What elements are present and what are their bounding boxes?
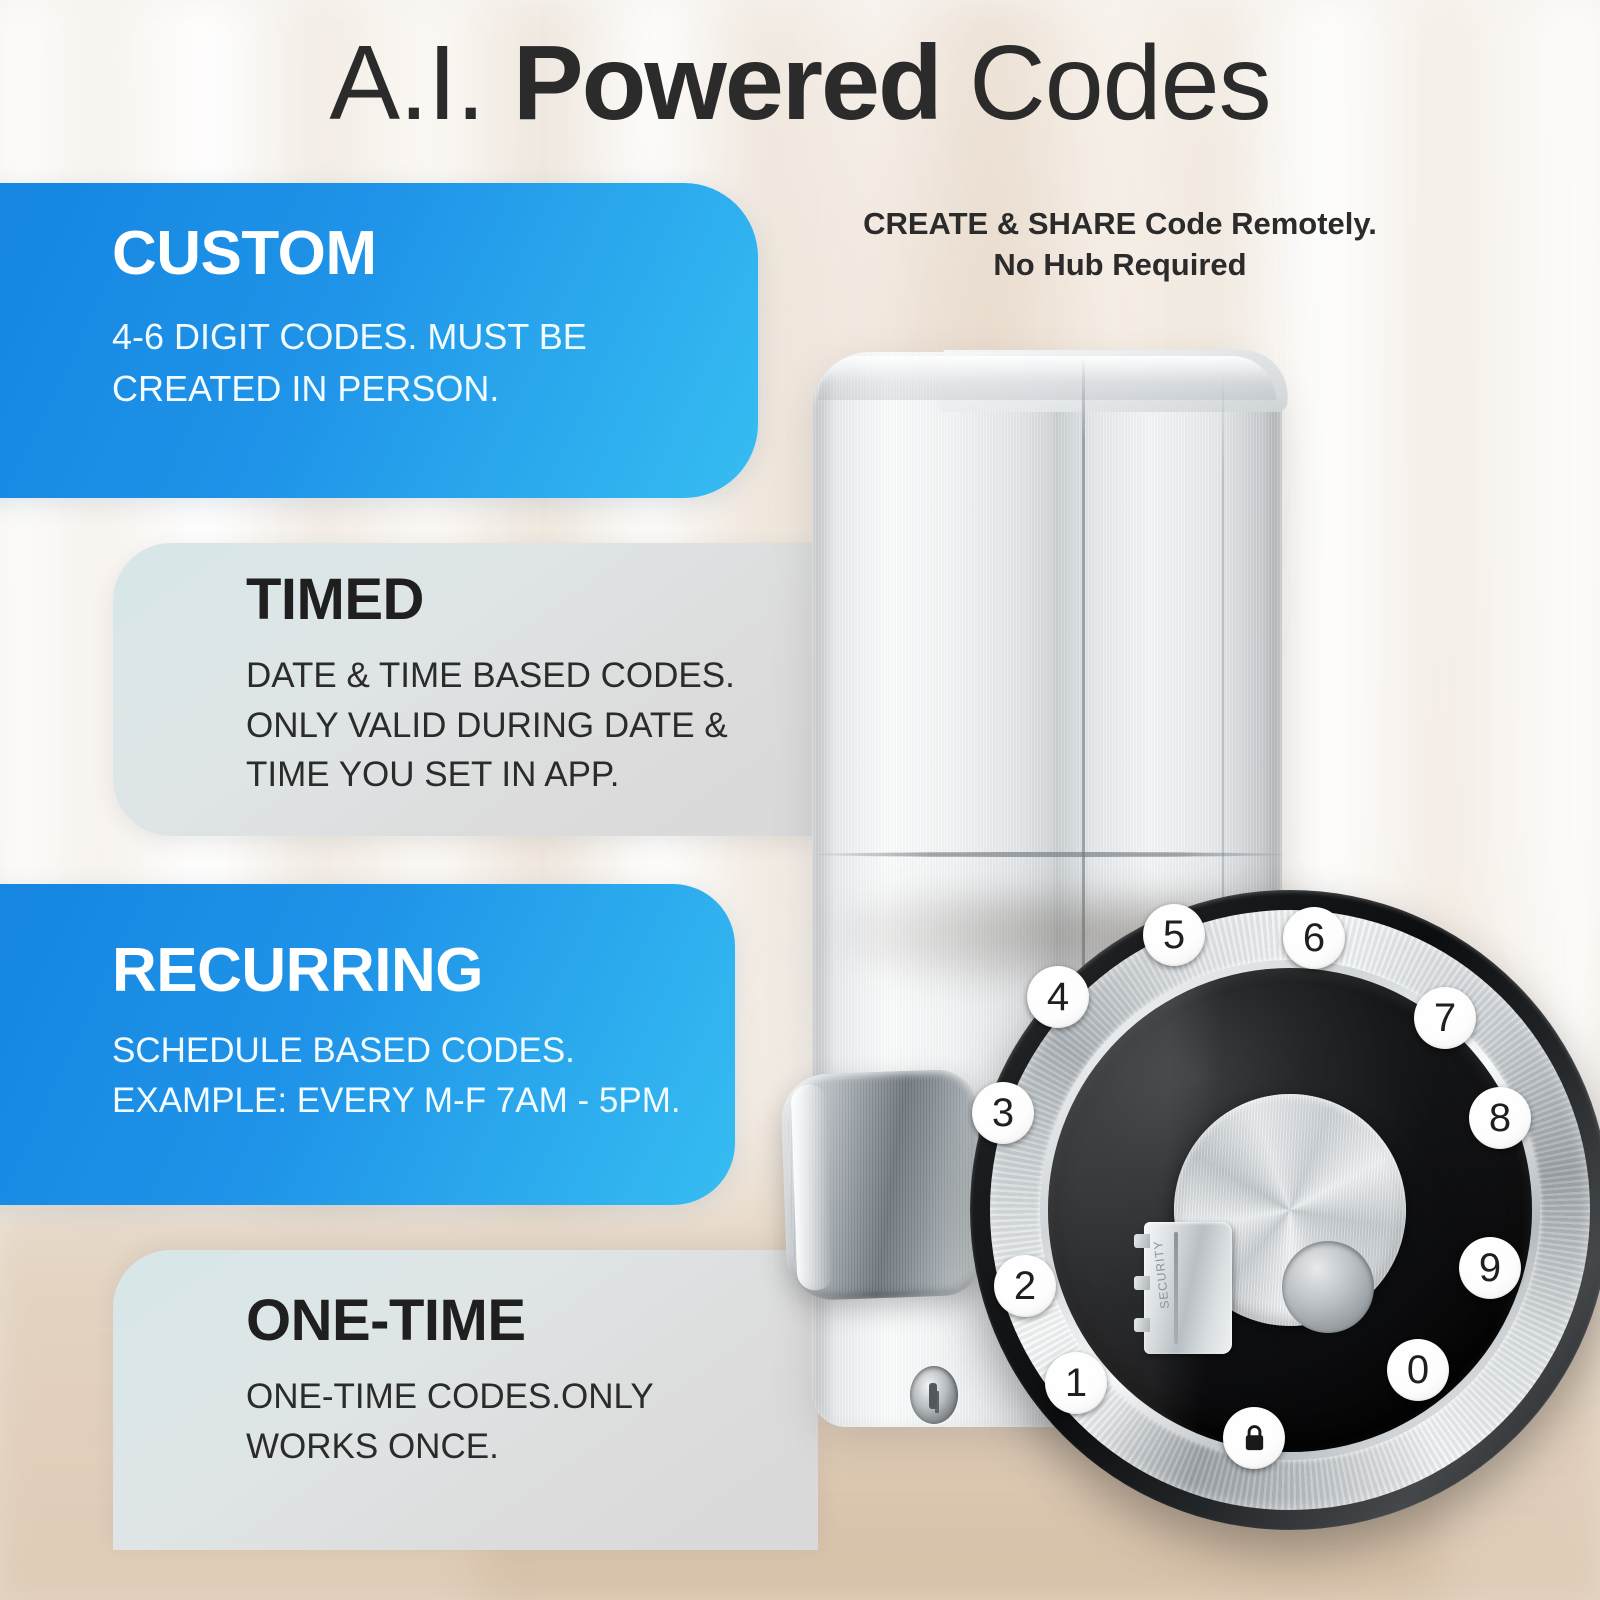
card-one-time-description: ONE-TIME CODES.ONLY WORKS ONCE. — [246, 1372, 778, 1471]
keypad-key-6[interactable]: 6 — [1283, 907, 1345, 969]
card-timed-title: TIMED — [246, 571, 778, 629]
card-custom-description: 4-6 DIGIT CODES. MUST BE CREATED IN PERS… — [112, 311, 698, 415]
thumbturn-knob[interactable] — [780, 1069, 984, 1302]
card-timed-line-1: DATE & TIME BASED CODES. — [246, 651, 778, 701]
card-timed-line-2: ONLY VALID DURING DATE & — [246, 701, 778, 751]
title-part-ai: A.I. — [329, 24, 513, 142]
card-recurring-description: SCHEDULE BASED CODES. EXAMPLE: EVERY M-F… — [112, 1026, 695, 1125]
card-timed-description: DATE & TIME BASED CODES. ONLY VALID DURI… — [246, 651, 778, 800]
thumbturn-highlight — [790, 1084, 833, 1291]
card-recurring-line-1: SCHEDULE BASED CODES. — [112, 1026, 695, 1076]
card-one-time-title: ONE-TIME — [246, 1292, 778, 1350]
feature-card-custom: CUSTOM 4-6 DIGIT CODES. MUST BE CREATED … — [0, 183, 758, 498]
feature-card-recurring: RECURRING SCHEDULE BASED CODES. EXAMPLE:… — [0, 884, 735, 1205]
keypad-key-1[interactable]: 1 — [1045, 1352, 1107, 1414]
smart-lock-product-photo: SECURITY 1 2 3 4 5 6 7 8 9 0 — [770, 330, 1600, 1600]
keypad-key-0[interactable]: 0 — [1387, 1339, 1449, 1401]
deadbolt-seam-line — [816, 852, 1284, 857]
card-recurring-line-2: EXAMPLE: EVERY M-F 7AM - 5PM. — [112, 1076, 695, 1126]
keypad-key-5-label: 5 — [1163, 915, 1185, 955]
caption-line-2: No Hub Required — [800, 245, 1440, 286]
feature-card-one-time: ONE-TIME ONE-TIME CODES.ONLY WORKS ONCE. — [113, 1250, 818, 1550]
keypad-key-4[interactable]: 4 — [1027, 966, 1089, 1028]
key-stamp-text: SECURITY — [1155, 1267, 1242, 1310]
padlock-icon[interactable] — [1223, 1407, 1285, 1469]
keypad-key-3[interactable]: 3 — [972, 1082, 1034, 1144]
keypad-key-4-label: 4 — [1047, 977, 1069, 1017]
keypad-key-8-label: 8 — [1489, 1098, 1511, 1138]
share-remotely-caption: CREATE & SHARE Code Remotely. No Hub Req… — [800, 204, 1440, 286]
title-part-codes: Codes — [941, 24, 1271, 142]
keypad-key-6-label: 6 — [1303, 918, 1325, 958]
keypad-key-2[interactable]: 2 — [994, 1255, 1056, 1317]
keypad-key-3-label: 3 — [992, 1093, 1014, 1133]
card-recurring-title: RECURRING — [112, 940, 695, 1002]
card-one-time-line-2: WORKS ONCE. — [246, 1422, 778, 1472]
keypad-key-9-label: 9 — [1479, 1248, 1501, 1288]
title-part-powered: Powered — [513, 24, 941, 142]
card-custom-line-2: CREATED IN PERSON. — [112, 363, 698, 415]
deadbolt-top-highlight — [818, 356, 1276, 400]
physical-key: SECURITY — [1144, 1222, 1232, 1354]
key-tooth — [1134, 1276, 1150, 1290]
keypad-key-8[interactable]: 8 — [1469, 1087, 1531, 1149]
key-tooth — [1134, 1234, 1150, 1248]
card-custom-title: CUSTOM — [112, 223, 698, 285]
keypad-key-1-label: 1 — [1065, 1363, 1087, 1403]
keypad-key-5[interactable]: 5 — [1143, 904, 1205, 966]
keypad-key-9[interactable]: 9 — [1459, 1237, 1521, 1299]
card-timed-line-3: TIME YOU SET IN APP. — [246, 750, 778, 800]
keypad-key-7-label: 7 — [1434, 998, 1456, 1038]
keypad-key-7[interactable]: 7 — [1414, 987, 1476, 1049]
key-tooth — [1134, 1318, 1150, 1332]
keypad-key-2-label: 2 — [1014, 1266, 1036, 1306]
key-cylinder-slot — [1282, 1241, 1374, 1333]
card-custom-line-1: 4-6 DIGIT CODES. MUST BE — [112, 311, 698, 363]
keypad-key-0-label: 0 — [1407, 1350, 1429, 1390]
feature-card-timed: TIMED DATE & TIME BASED CODES. ONLY VALI… — [113, 543, 818, 836]
page-title: A.I. Powered Codes — [0, 26, 1600, 140]
circular-keypad[interactable]: SECURITY 1 2 3 4 5 6 7 8 9 0 — [970, 890, 1600, 1530]
caption-line-1: CREATE & SHARE Code Remotely. — [800, 204, 1440, 245]
card-one-time-line-1: ONE-TIME CODES.ONLY — [246, 1372, 778, 1422]
deadbolt-screw-dimple — [910, 1366, 958, 1424]
